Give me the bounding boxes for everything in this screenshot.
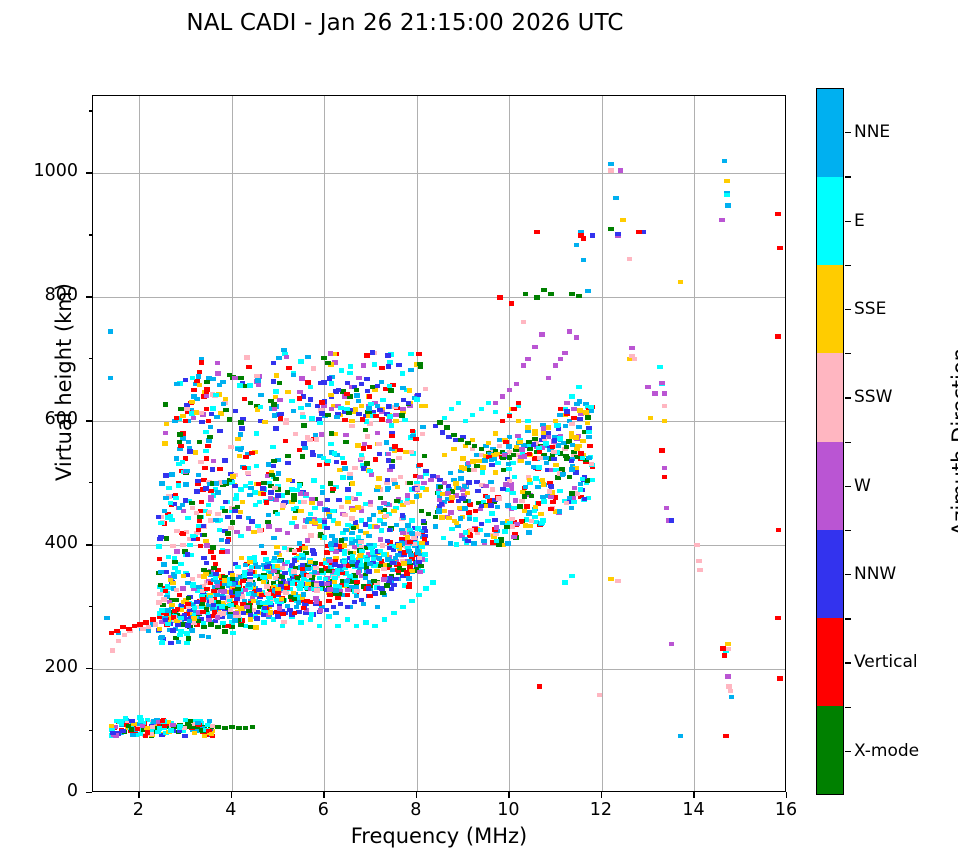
data-point (380, 398, 386, 402)
colorbar-segment-nne (817, 89, 843, 177)
data-point (264, 565, 270, 569)
data-point (352, 545, 358, 549)
data-point (486, 441, 492, 445)
data-point (298, 509, 304, 513)
data-point (439, 515, 445, 519)
data-point (354, 388, 360, 392)
data-point (184, 631, 190, 635)
data-point (416, 560, 422, 564)
data-point (222, 509, 228, 513)
data-point (162, 441, 168, 445)
data-point (325, 459, 331, 463)
data-point (194, 489, 200, 493)
data-point (414, 494, 420, 498)
data-point (203, 449, 209, 453)
data-point (234, 530, 240, 534)
data-point (158, 570, 164, 574)
data-point (274, 545, 280, 549)
data-point (329, 381, 335, 385)
data-point (409, 599, 415, 603)
data-point (194, 511, 200, 515)
data-point (163, 589, 169, 593)
data-point (354, 580, 360, 584)
data-point (397, 566, 403, 570)
data-point (336, 388, 342, 392)
data-point (235, 437, 241, 441)
y-tick-mark (86, 172, 92, 173)
data-point (375, 384, 381, 388)
data-point (507, 388, 513, 392)
data-point (331, 605, 337, 609)
data-point (330, 509, 336, 513)
data-point (291, 497, 297, 501)
data-point (342, 552, 348, 556)
data-point (378, 496, 384, 500)
data-point (245, 471, 251, 475)
data-point (342, 513, 348, 517)
data-point (511, 506, 517, 510)
data-point (697, 568, 703, 572)
data-point (362, 442, 368, 446)
data-point (347, 574, 353, 578)
data-point (404, 572, 410, 576)
data-point (321, 356, 327, 360)
data-point (572, 486, 578, 490)
data-point (159, 608, 165, 612)
colorbar-boundary-tick (845, 530, 851, 531)
data-point (271, 459, 277, 463)
data-point (314, 588, 320, 592)
data-point (222, 726, 228, 730)
data-point (176, 462, 182, 466)
data-point (507, 414, 513, 418)
data-point (155, 730, 161, 734)
data-point (114, 629, 120, 633)
data-point (350, 508, 356, 512)
data-point (264, 500, 270, 504)
data-point (489, 463, 495, 467)
data-point (229, 725, 235, 729)
data-point (345, 401, 351, 405)
x-tick-mark (786, 792, 787, 798)
data-point (523, 523, 529, 527)
data-point (449, 527, 455, 531)
data-point (384, 440, 390, 444)
data-point (353, 520, 359, 524)
data-point (558, 357, 564, 361)
data-point (352, 466, 358, 470)
data-point (343, 433, 349, 437)
data-point (177, 726, 183, 730)
colorbar-boundary-tick (845, 442, 851, 443)
data-point (176, 640, 182, 644)
data-point (325, 413, 331, 417)
data-point (662, 419, 668, 423)
data-point (524, 504, 530, 508)
data-point (725, 203, 731, 207)
data-point (272, 413, 278, 417)
data-point (506, 467, 512, 471)
data-point (349, 516, 355, 520)
data-point (274, 373, 280, 377)
data-point (421, 481, 427, 485)
data-point (343, 440, 349, 444)
data-point (448, 541, 454, 545)
scatter-data-layer (93, 96, 785, 791)
data-point (327, 514, 333, 518)
data-point (175, 607, 181, 611)
data-point (420, 432, 426, 436)
data-point (185, 552, 191, 556)
data-point (775, 212, 781, 216)
data-point (223, 500, 229, 504)
data-point (264, 584, 270, 588)
data-point (575, 491, 581, 495)
colorbar-boundary-tick (845, 618, 851, 619)
data-point (348, 364, 354, 368)
data-point (301, 500, 307, 504)
data-point (201, 556, 207, 560)
data-point (330, 487, 336, 491)
data-point (389, 587, 395, 591)
colorbar-boundary-tick (845, 353, 851, 354)
data-point (247, 556, 253, 560)
data-point (359, 563, 365, 567)
data-point (473, 509, 479, 513)
data-point (352, 600, 358, 604)
data-point (259, 544, 265, 548)
data-point (164, 536, 170, 540)
data-point (116, 639, 122, 643)
data-point (285, 390, 291, 394)
data-point (194, 600, 200, 604)
data-point (327, 587, 333, 591)
data-point (244, 605, 250, 609)
data-point (210, 724, 216, 728)
data-point (208, 549, 214, 553)
data-point (418, 564, 424, 568)
data-point (185, 602, 191, 606)
data-point (274, 551, 280, 555)
data-point (645, 385, 651, 389)
data-point (297, 448, 303, 452)
data-point (312, 570, 318, 574)
y-tick-mark (86, 668, 92, 669)
data-point (206, 618, 212, 622)
data-point (491, 453, 497, 457)
y-tick-label: 0 (8, 781, 78, 801)
data-point (550, 500, 556, 504)
data-point (367, 517, 373, 521)
data-point (326, 569, 332, 573)
data-point (613, 196, 619, 200)
data-point (775, 616, 781, 620)
data-point (493, 431, 499, 435)
y-tick-mark (86, 296, 92, 297)
data-point (377, 452, 383, 456)
data-point (215, 512, 221, 516)
data-point (189, 400, 195, 404)
data-point (249, 519, 255, 523)
data-point (442, 509, 448, 513)
data-point (618, 168, 624, 172)
data-point (146, 629, 152, 633)
data-point (268, 610, 274, 614)
data-point (488, 480, 494, 484)
data-point (569, 459, 575, 463)
data-point (505, 541, 511, 545)
data-point (413, 437, 419, 441)
colorbar-boundary-tick (845, 265, 851, 266)
data-point (333, 588, 339, 592)
data-point (696, 559, 702, 563)
data-point (506, 444, 512, 448)
data-point (305, 582, 311, 586)
data-point (211, 555, 217, 559)
data-point (239, 556, 245, 560)
data-point (382, 617, 388, 621)
data-point (400, 407, 406, 411)
data-point (503, 440, 509, 444)
data-point (539, 521, 545, 525)
data-point (422, 552, 428, 556)
data-point (400, 371, 406, 375)
data-point (301, 606, 307, 610)
data-point (185, 516, 191, 520)
data-point (407, 388, 413, 392)
data-point (366, 534, 372, 538)
data-point (402, 418, 408, 422)
data-point (368, 402, 374, 406)
data-point (219, 550, 225, 554)
data-point (354, 589, 360, 593)
data-point (527, 447, 533, 451)
data-point (500, 394, 506, 398)
data-point (162, 509, 168, 513)
colorbar-tick (845, 662, 851, 663)
data-point (322, 520, 328, 524)
data-point (248, 612, 254, 616)
data-point (521, 363, 527, 367)
data-point (379, 528, 385, 532)
data-point (284, 355, 290, 359)
data-point (243, 455, 249, 459)
data-point (280, 566, 286, 570)
data-point (299, 376, 305, 380)
data-point (181, 574, 187, 578)
data-point (177, 593, 183, 597)
data-point (273, 389, 279, 393)
data-point (253, 625, 259, 629)
data-point (253, 503, 259, 507)
data-point (557, 413, 563, 417)
data-point (210, 406, 216, 410)
data-point (513, 498, 519, 502)
data-point (249, 451, 255, 455)
colorbar-label-vertical: Vertical (854, 652, 918, 672)
data-point (140, 724, 146, 728)
data-point (338, 602, 344, 606)
data-point (311, 478, 317, 482)
data-point (403, 450, 409, 454)
data-point (479, 407, 485, 411)
data-point (370, 350, 376, 354)
data-point (310, 450, 316, 454)
data-point (213, 393, 219, 397)
data-point (456, 499, 462, 503)
data-point (227, 582, 233, 586)
data-point (554, 423, 560, 427)
data-point (197, 515, 203, 519)
data-point (408, 368, 414, 372)
data-point (228, 608, 234, 612)
data-point (202, 466, 208, 470)
y-tick-label: 1000 (8, 161, 78, 181)
data-point (271, 361, 277, 365)
data-point (298, 359, 304, 363)
data-point (285, 490, 291, 494)
data-point (277, 381, 283, 385)
data-point (380, 543, 386, 547)
data-point (261, 580, 267, 584)
data-point (636, 230, 642, 234)
data-point (265, 520, 271, 524)
data-point (204, 587, 210, 591)
data-point (232, 509, 238, 513)
data-point (438, 485, 444, 489)
data-point (255, 378, 261, 382)
data-point (514, 382, 520, 386)
data-point (409, 450, 415, 454)
data-point (327, 593, 333, 597)
data-point (271, 379, 277, 383)
data-point (344, 392, 350, 396)
colorbar-tick (845, 486, 851, 487)
data-point (652, 391, 658, 395)
y-tick-minor (89, 110, 93, 111)
data-point (190, 583, 196, 587)
data-point (169, 472, 175, 476)
data-point (536, 446, 542, 450)
data-point (238, 510, 244, 514)
data-point (563, 424, 569, 428)
data-point (150, 725, 156, 729)
data-point (694, 543, 700, 547)
data-point (242, 574, 248, 578)
data-point (440, 492, 446, 496)
data-point (525, 419, 531, 423)
data-point (336, 498, 342, 502)
data-point (386, 452, 392, 456)
colorbar-segment-w (817, 442, 843, 530)
data-point (407, 559, 413, 563)
azimuth-colorbar (816, 88, 844, 795)
data-point (586, 456, 592, 460)
data-point (472, 444, 478, 448)
data-point (291, 569, 297, 573)
data-point (277, 398, 283, 402)
data-point (456, 401, 462, 405)
data-point (157, 537, 163, 541)
data-point (318, 608, 324, 612)
data-point (246, 365, 252, 369)
data-point (271, 569, 277, 573)
data-point (337, 564, 343, 568)
data-point (262, 606, 268, 610)
data-point (198, 544, 204, 548)
data-point (174, 382, 180, 386)
data-point (345, 523, 351, 527)
data-point (238, 534, 244, 538)
data-point (143, 620, 149, 624)
data-point (285, 531, 291, 535)
data-point (108, 376, 114, 380)
data-point (211, 566, 217, 570)
data-point (189, 501, 195, 505)
data-point (543, 441, 549, 445)
data-point (292, 558, 298, 562)
data-point (531, 465, 537, 469)
data-point (190, 376, 196, 380)
data-point (454, 521, 460, 525)
data-point (280, 624, 286, 628)
data-point (317, 576, 323, 580)
data-point (367, 445, 373, 449)
data-point (233, 409, 239, 413)
data-point (551, 457, 557, 461)
data-point (319, 411, 325, 415)
data-point (317, 501, 323, 505)
data-point (367, 469, 373, 473)
data-point (662, 466, 668, 470)
data-point (199, 420, 205, 424)
data-point (533, 505, 539, 509)
data-point (470, 413, 476, 417)
data-point (532, 509, 538, 513)
data-point (440, 430, 446, 434)
data-point (372, 624, 378, 628)
data-point (295, 576, 301, 580)
data-point (210, 467, 216, 471)
data-point (199, 634, 205, 638)
data-point (285, 560, 291, 564)
data-point (129, 727, 135, 731)
data-point (423, 404, 429, 408)
data-point (373, 414, 379, 418)
data-point (342, 466, 348, 470)
data-point (396, 363, 402, 367)
data-point (537, 456, 543, 460)
data-point (564, 401, 570, 405)
data-point (349, 419, 355, 423)
data-point (506, 462, 512, 466)
data-point (567, 329, 573, 333)
data-point (548, 292, 554, 296)
data-point (333, 611, 339, 615)
data-point (475, 489, 481, 493)
data-point (343, 528, 349, 532)
data-point (219, 538, 225, 542)
data-point (522, 454, 528, 458)
data-point (488, 503, 494, 507)
data-point (363, 428, 369, 432)
data-point (280, 612, 286, 616)
data-point (553, 363, 559, 367)
data-point (328, 393, 334, 397)
data-point (629, 346, 635, 350)
data-point (589, 462, 595, 466)
x-tick-mark (231, 792, 232, 798)
